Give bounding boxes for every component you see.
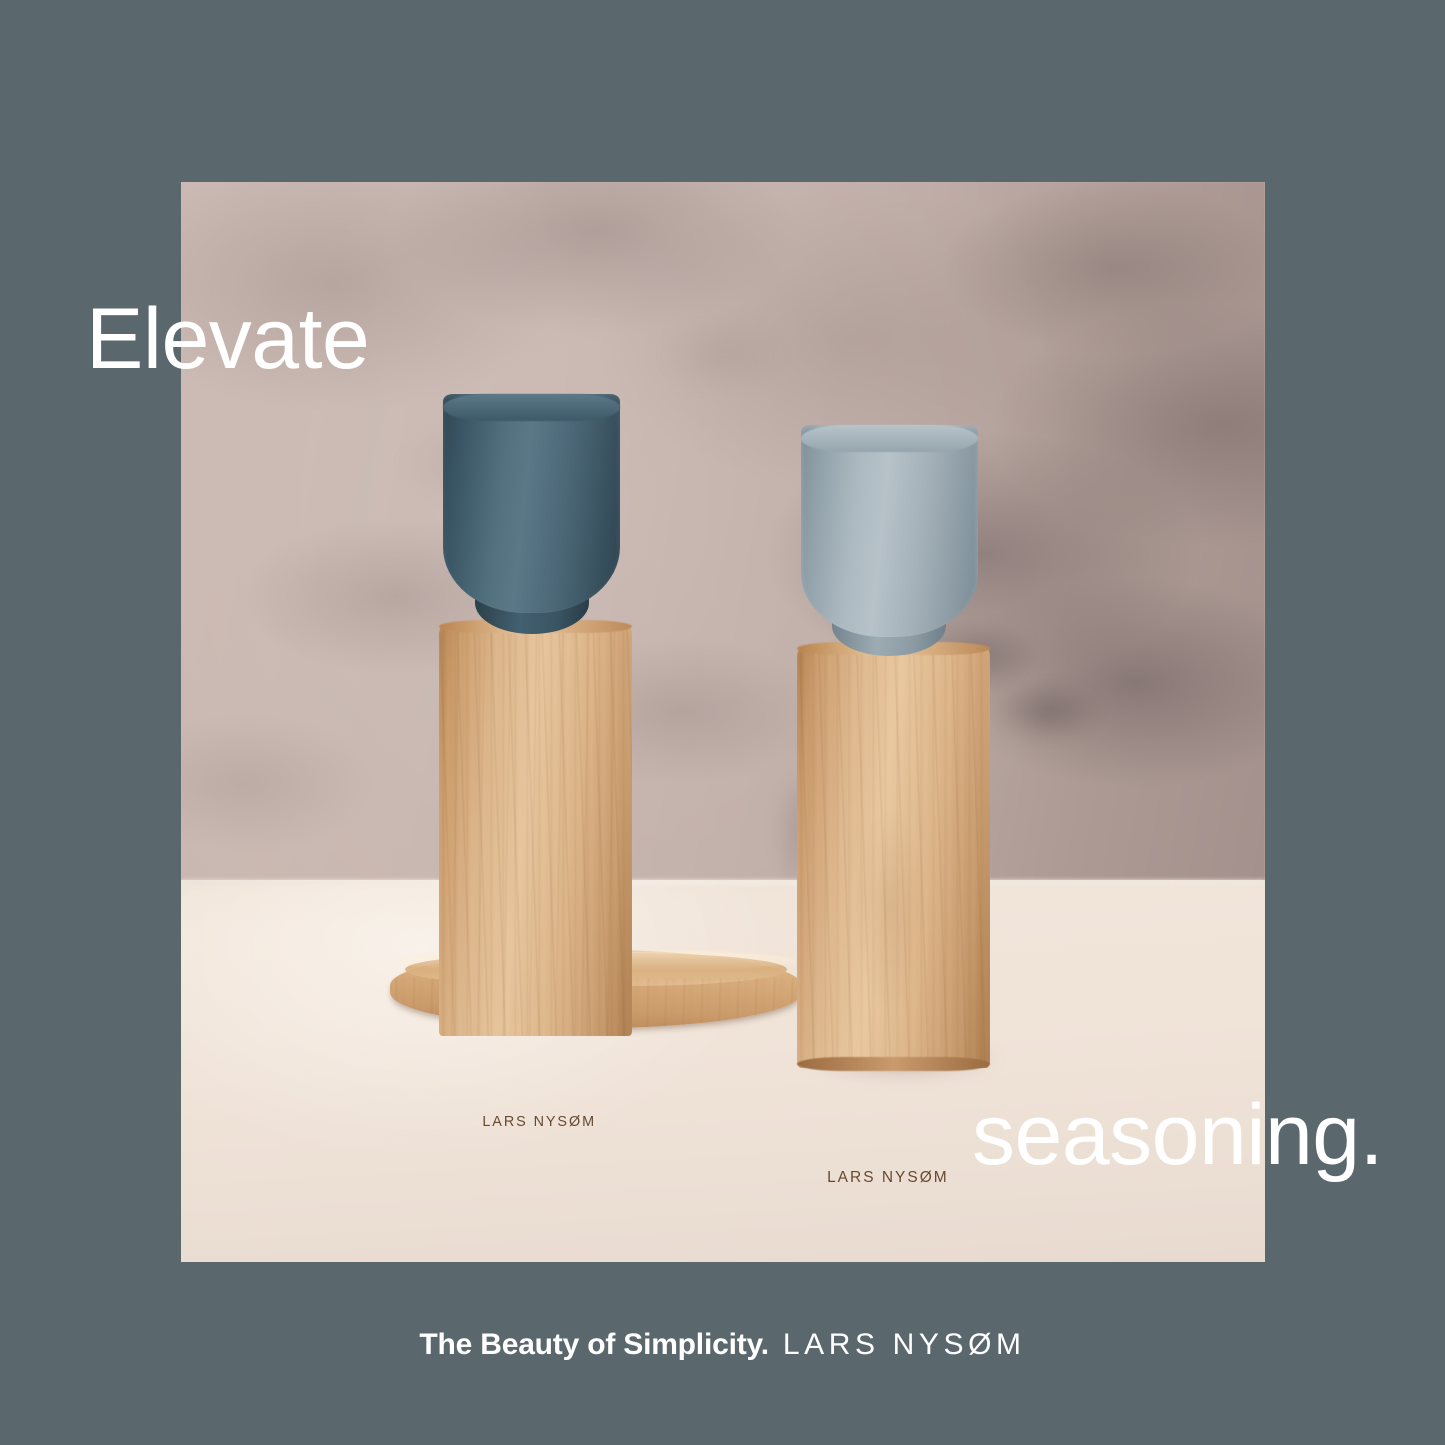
table-wall-horizon	[181, 880, 1265, 885]
footer-bar: The Beauty of Simplicity. LARS NYSØM	[0, 1328, 1445, 1362]
grinder-right	[797, 425, 990, 1068]
footer-tagline: The Beauty of Simplicity.	[419, 1328, 769, 1362]
ad-canvas: LARS NYSØM LARS NYSØM Elevate seasoning.…	[0, 0, 1445, 1445]
grinder-left	[439, 394, 632, 1037]
brand-engraving-right: LARS NYSØM	[827, 1169, 949, 1187]
grinder-left-cap-top-rim	[443, 394, 621, 421]
grinder-right-wood-body	[797, 647, 990, 1067]
table-surface	[181, 880, 1265, 1262]
grinder-left-wood-body	[439, 625, 632, 1036]
grinder-right-cap-top-rim	[801, 425, 979, 452]
headline-elevate: Elevate	[86, 296, 369, 382]
brand-logo-wordmark: LARS NYSØM	[783, 1328, 1026, 1362]
grinder-left-ceramic-cap	[443, 394, 621, 614]
grinder-left-flecks	[439, 625, 632, 1036]
headline-seasoning: seasoning.	[972, 1092, 1383, 1178]
grinder-right-base-edge	[797, 1057, 990, 1071]
grinder-right-flecks	[797, 647, 990, 1067]
brand-engraving-left: LARS NYSØM	[483, 1113, 597, 1130]
grinder-right-ceramic-cap	[801, 425, 979, 637]
